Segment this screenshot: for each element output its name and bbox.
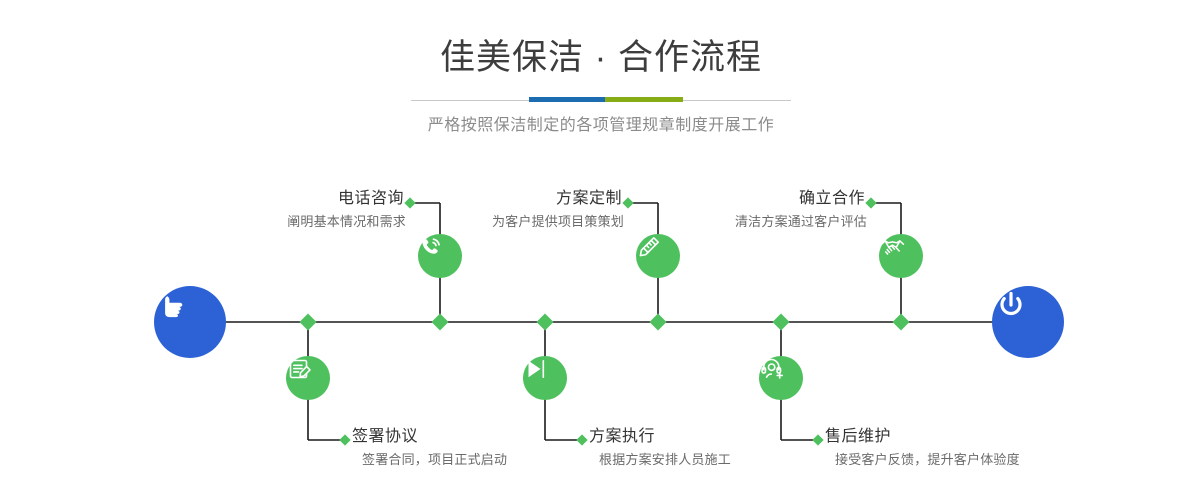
step-1-icon-circle[interactable]: [418, 234, 462, 278]
timeline-diamond-6: [773, 314, 790, 331]
timeline-diamond-4: [537, 314, 554, 331]
timeline-diamond-1: [432, 314, 449, 331]
label-diamond-5: [865, 197, 876, 208]
step-4-icon-circle[interactable]: [523, 356, 567, 400]
flow-start-endpoint[interactable]: [154, 286, 226, 358]
step-2-icon-circle[interactable]: [286, 356, 330, 400]
flow-diagram: 电话咨询 阐明基本情况和需求 方案定制 为客户提供项目策策划 确立合作 清洁方案…: [0, 0, 1202, 502]
flow-end-endpoint[interactable]: [992, 286, 1064, 358]
label-diamond-2: [339, 434, 350, 445]
timeline-diamond-2: [300, 314, 317, 331]
cooperation-flow-page: 佳美保洁 · 合作流程 严格按照保洁制定的各项管理规章制度开展工作: [0, 0, 1202, 502]
step-6-icon-circle[interactable]: [759, 356, 803, 400]
step-5-label: 确立合作 清洁方案通过客户评估: [571, 188, 867, 232]
step-3-icon-circle[interactable]: [636, 234, 680, 278]
timeline-diamond-5: [893, 314, 910, 331]
step-6-subtitle: 接受客户反馈，提升客户体验度: [823, 450, 1143, 470]
step-6-title: 售后维护: [823, 426, 1143, 448]
timeline-diamond-3: [650, 314, 667, 331]
step-6-label: 售后维护 接受客户反馈，提升客户体验度: [823, 426, 1143, 470]
step-5-icon-circle[interactable]: [879, 234, 923, 278]
step-5-subtitle: 清洁方案通过客户评估: [571, 212, 867, 232]
step-5-title: 确立合作: [571, 188, 867, 210]
